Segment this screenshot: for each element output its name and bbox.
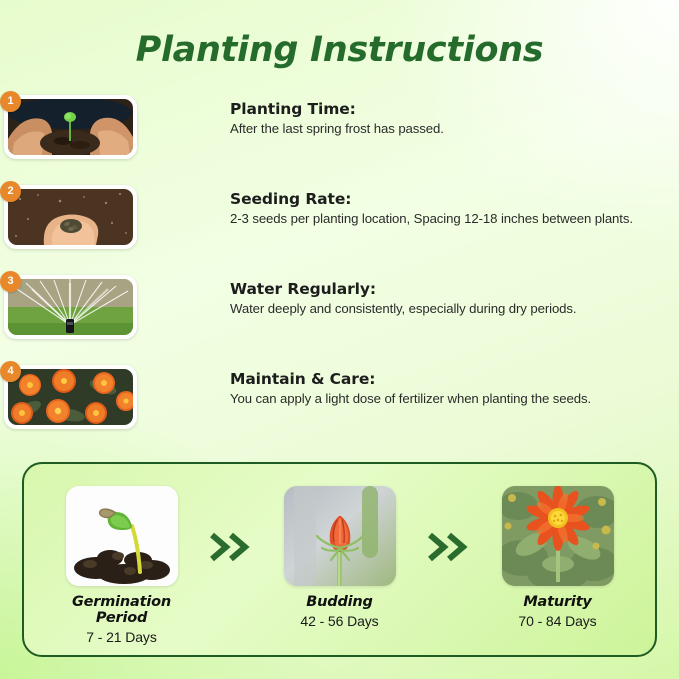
stage-label: Budding: [265, 594, 415, 610]
instruction-row: 2: [0, 176, 679, 266]
timeline-stage-budding: Budding 42 - 56 Days: [265, 464, 415, 629]
stage-days: 42 - 56 Days: [265, 613, 415, 629]
sprouting-seed-in-soil-photo: [66, 486, 178, 586]
instruction-heading: Maintain & Care:: [230, 370, 660, 388]
instruction-row: 1: [0, 86, 679, 176]
step-number-badge: 4: [0, 361, 21, 382]
instruction-body: You can apply a light dose of fertilizer…: [230, 390, 660, 409]
instruction-text: Seeding Rate: 2-3 seeds per planting loc…: [230, 190, 660, 229]
instruction-row: 3: [0, 266, 679, 356]
step-number-badge: 1: [0, 91, 21, 112]
instruction-thumbnail: 2: [0, 181, 141, 253]
hands-holding-soil-seedling-photo: [8, 99, 133, 155]
stage-days: 70 - 84 Days: [483, 613, 633, 629]
thumbnail-frame: [4, 365, 137, 429]
hand-holding-seeds-over-soil-photo: [8, 189, 133, 245]
instruction-heading: Water Regularly:: [230, 280, 660, 298]
orange-marigold-flowers-photo: [8, 369, 133, 425]
lawn-sprinkler-watering-photo: [8, 279, 133, 335]
instruction-thumbnail: 4: [0, 361, 141, 433]
thumbnail-frame: [4, 95, 137, 159]
instruction-body: After the last spring frost has passed.: [230, 120, 660, 139]
instruction-row: 4: [0, 356, 679, 446]
timeline-stage-germination: Germination Period 7 - 21 Days: [47, 464, 197, 645]
instruction-heading: Planting Time:: [230, 100, 660, 118]
stage-label: Maturity: [483, 594, 633, 610]
step-number-badge: 3: [0, 271, 21, 292]
instruction-text: Maintain & Care: You can apply a light d…: [230, 370, 660, 409]
double-chevron-right-icon: [197, 464, 265, 562]
page-title: Planting Instructions: [0, 30, 679, 70]
instructions-list: 1: [0, 86, 679, 446]
instruction-body: 2-3 seeds per planting location, Spacing…: [230, 210, 660, 229]
instruction-heading: Seeding Rate:: [230, 190, 660, 208]
instruction-text: Water Regularly: Water deeply and consis…: [230, 280, 660, 319]
blooming-orange-flower-photo: [502, 486, 614, 586]
instruction-text: Planting Time: After the last spring fro…: [230, 100, 660, 139]
instruction-thumbnail: 3: [0, 271, 141, 343]
double-chevron-right-icon: [415, 464, 483, 562]
infographic-page: Planting Instructions 1: [0, 0, 679, 679]
thumbnail-frame: [4, 185, 137, 249]
thumbnail-frame: [4, 275, 137, 339]
timeline-stage-maturity: Maturity 70 - 84 Days: [483, 464, 633, 629]
step-number-badge: 2: [0, 181, 21, 202]
flower-bud-closeup-photo: [284, 486, 396, 586]
stage-days: 7 - 21 Days: [47, 629, 197, 645]
stage-label: Germination Period: [47, 594, 197, 626]
instruction-body: Water deeply and consistently, especiall…: [230, 300, 660, 319]
instruction-thumbnail: 1: [0, 91, 141, 163]
growth-timeline-panel: Germination Period 7 - 21 Days: [22, 462, 657, 657]
